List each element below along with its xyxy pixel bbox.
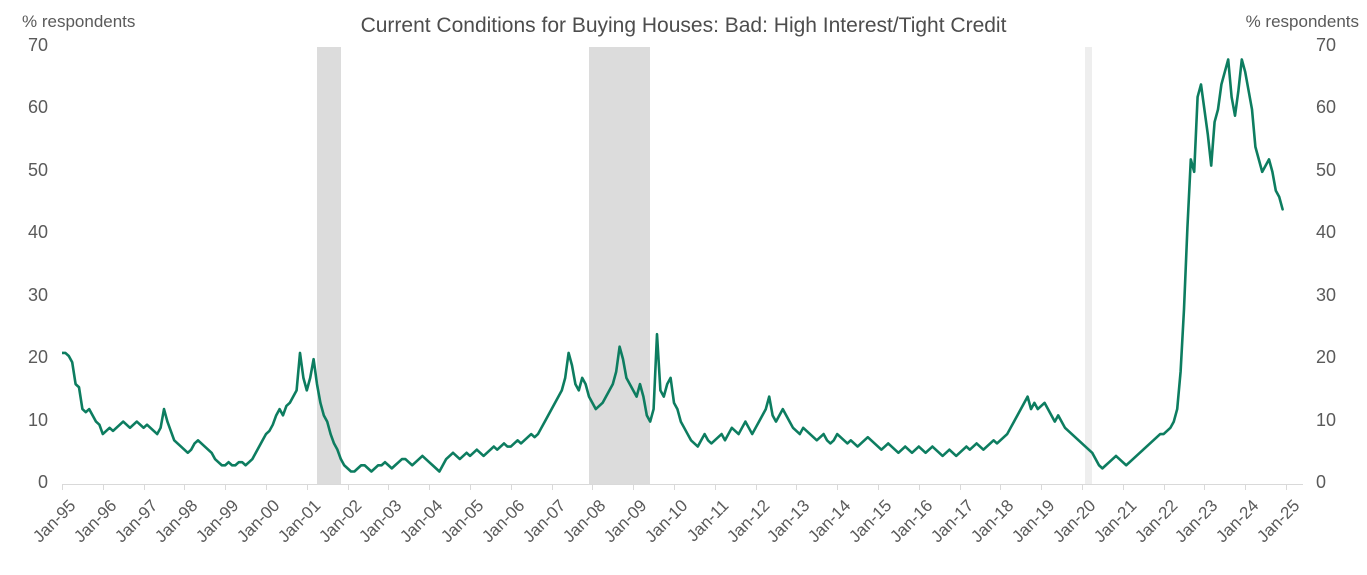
x-axis-tick [225, 484, 226, 490]
x-axis-tick [1000, 484, 1001, 490]
x-axis-tick [429, 484, 430, 490]
y-axis-right-tick-label: 0 [1316, 473, 1360, 491]
x-axis-tick [1123, 484, 1124, 490]
x-axis-tick [1164, 484, 1165, 490]
y-axis-right-tick-label: 30 [1316, 286, 1360, 304]
x-axis-tick [878, 484, 879, 490]
x-axis-tick [1082, 484, 1083, 490]
x-axis-tick [796, 484, 797, 490]
chart-container: % respondents % respondents Current Cond… [0, 0, 1367, 575]
y-axis-right-tick-label: 20 [1316, 348, 1360, 366]
y-axis-left-tick-label: 40 [0, 223, 48, 241]
series-line-path [62, 59, 1283, 471]
y-axis-right-tick-label: 10 [1316, 411, 1360, 429]
x-axis-tick [470, 484, 471, 490]
x-axis-tick [633, 484, 634, 490]
x-axis-tick [674, 484, 675, 490]
x-axis-tick [919, 484, 920, 490]
x-axis-tick [62, 484, 63, 490]
x-axis-tick [1286, 484, 1287, 490]
y-axis-right-tick-label: 70 [1316, 36, 1360, 54]
x-axis-tick [307, 484, 308, 490]
x-axis-tick [552, 484, 553, 490]
y-axis-left-tick-label: 50 [0, 161, 48, 179]
y-axis-left-tick-label: 0 [0, 473, 48, 491]
x-axis-tick [144, 484, 145, 490]
y-axis-right-tick-label: 40 [1316, 223, 1360, 241]
x-axis-tick [592, 484, 593, 490]
x-axis-tick [1204, 484, 1205, 490]
x-axis-tick [1041, 484, 1042, 490]
y-axis-left-tick-label: 70 [0, 36, 48, 54]
x-axis-tick [103, 484, 104, 490]
x-axis-tick [511, 484, 512, 490]
series-line-chart [62, 47, 1303, 484]
x-axis-tick [715, 484, 716, 490]
x-axis-tick [960, 484, 961, 490]
x-axis-tick [184, 484, 185, 490]
y-axis-left-tick-label: 20 [0, 348, 48, 366]
x-axis-tick [348, 484, 349, 490]
y-axis-right-tick-label: 60 [1316, 98, 1360, 116]
x-axis-tick [756, 484, 757, 490]
y-axis-left-tick-label: 60 [0, 98, 48, 116]
y-axis-right-tick-label: 50 [1316, 161, 1360, 179]
y-axis-left-tick-label: 30 [0, 286, 48, 304]
x-axis-tick [266, 484, 267, 490]
plot-area [62, 47, 1303, 484]
chart-title: Current Conditions for Buying Houses: Ba… [0, 14, 1367, 38]
y-axis-left-tick-label: 10 [0, 411, 48, 429]
x-axis-tick [1245, 484, 1246, 490]
x-axis-tick [388, 484, 389, 490]
x-axis-tick [837, 484, 838, 490]
x-axis-line [62, 484, 1303, 485]
